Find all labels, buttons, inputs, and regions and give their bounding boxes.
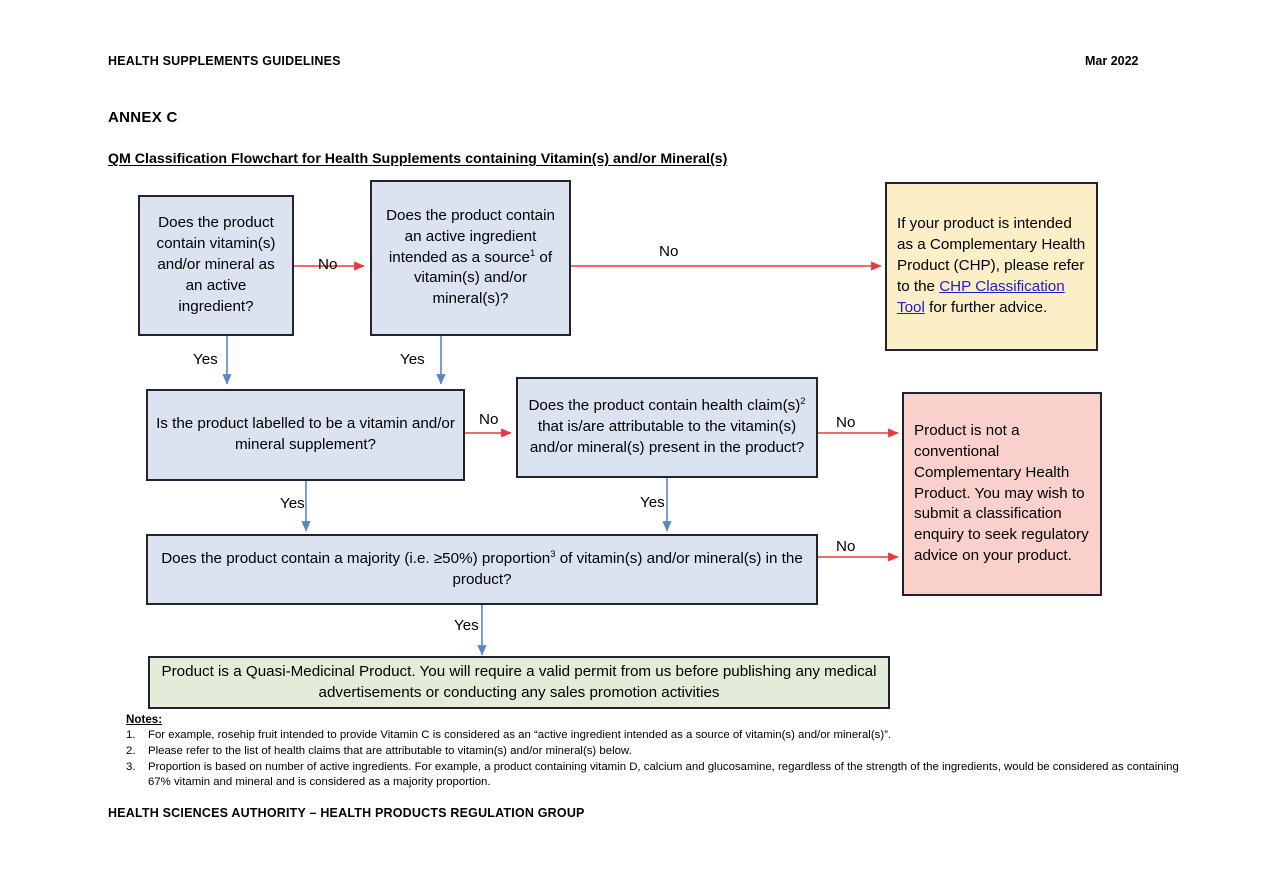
decision-box-labelled-supplement-text: Is the product labelled to be a vitamin … [156, 414, 455, 456]
edge-label-q2-yes: Yes [400, 351, 425, 368]
edge-label-q2-no: No [659, 243, 678, 260]
decision-box-active-ingredient-source-text: Does the product contain an active ingre… [380, 206, 561, 311]
notes-list: 1. For example, rosehip fruit intended t… [126, 728, 1201, 792]
page-header-left: HEALTH SUPPLEMENTS GUIDELINES [108, 54, 341, 68]
decision-box-active-ingredient-source[interactable]: Does the product contain an active ingre… [370, 180, 571, 336]
note-text: Proportion is based on number of active … [148, 760, 1201, 790]
note-number: 1. [126, 728, 148, 743]
edge-label-q5-no: No [836, 538, 855, 555]
decision-box-contains-vitamin-mineral[interactable]: Does the product contain vitamin(s) and/… [138, 195, 294, 336]
outcome-box-quasi-medicinal-product-text: Product is a Quasi-Medicinal Product. Yo… [158, 662, 880, 704]
edge-label-q3-no: No [479, 411, 498, 428]
note-number: 3. [126, 760, 148, 775]
footnote-marker-2: 2 [800, 395, 805, 406]
decision-box-health-claims[interactable]: Does the product contain health claim(s)… [516, 377, 818, 478]
flowchart-title: QM Classification Flowchart for Health S… [108, 151, 727, 167]
note-item: 2. Please refer to the list of health cl… [126, 744, 1201, 759]
outcome-box-not-conventional-chp-text: Product is not a conventional Complement… [914, 421, 1090, 568]
outcome-box-not-conventional-chp[interactable]: Product is not a conventional Complement… [902, 392, 1102, 596]
page-header-date: Mar 2022 [1085, 54, 1139, 68]
page-footer: HEALTH SCIENCES AUTHORITY – HEALTH PRODU… [108, 806, 585, 820]
note-item: 3. Proportion is based on number of acti… [126, 760, 1201, 790]
notes-heading: Notes: [126, 713, 162, 726]
note-number: 2. [126, 744, 148, 759]
decision-box-health-claims-text: Does the product contain health claim(s)… [526, 396, 808, 459]
note-text: For example, rosehip fruit intended to p… [148, 728, 1201, 743]
outcome-box-quasi-medicinal-product[interactable]: Product is a Quasi-Medicinal Product. Yo… [148, 656, 890, 709]
edge-label-q4-no: No [836, 414, 855, 431]
decision-box-labelled-supplement[interactable]: Is the product labelled to be a vitamin … [146, 389, 465, 481]
decision-box-majority-proportion[interactable]: Does the product contain a majority (i.e… [146, 534, 818, 605]
edge-label-q3-yes: Yes [280, 495, 305, 512]
note-item: 1. For example, rosehip fruit intended t… [126, 728, 1201, 743]
decision-box-contains-vitamin-mineral-text: Does the product contain vitamin(s) and/… [148, 213, 284, 318]
annex-label: ANNEX C [108, 109, 178, 126]
edge-label-q1-yes: Yes [193, 351, 218, 368]
decision-box-majority-proportion-text: Does the product contain a majority (i.e… [156, 549, 808, 591]
document-page: HEALTH SUPPLEMENTS GUIDELINES Mar 2022 A… [0, 0, 1266, 895]
edge-label-q5-yes: Yes [454, 617, 479, 634]
edge-label-q1-no: No [318, 256, 337, 273]
edge-label-q4-yes: Yes [640, 494, 665, 511]
outcome-box-chp-advice[interactable]: If your product is intended as a Complem… [885, 182, 1098, 351]
note-text: Please refer to the list of health claim… [148, 744, 1201, 759]
outcome-box-chp-advice-text: If your product is intended as a Complem… [897, 214, 1086, 319]
